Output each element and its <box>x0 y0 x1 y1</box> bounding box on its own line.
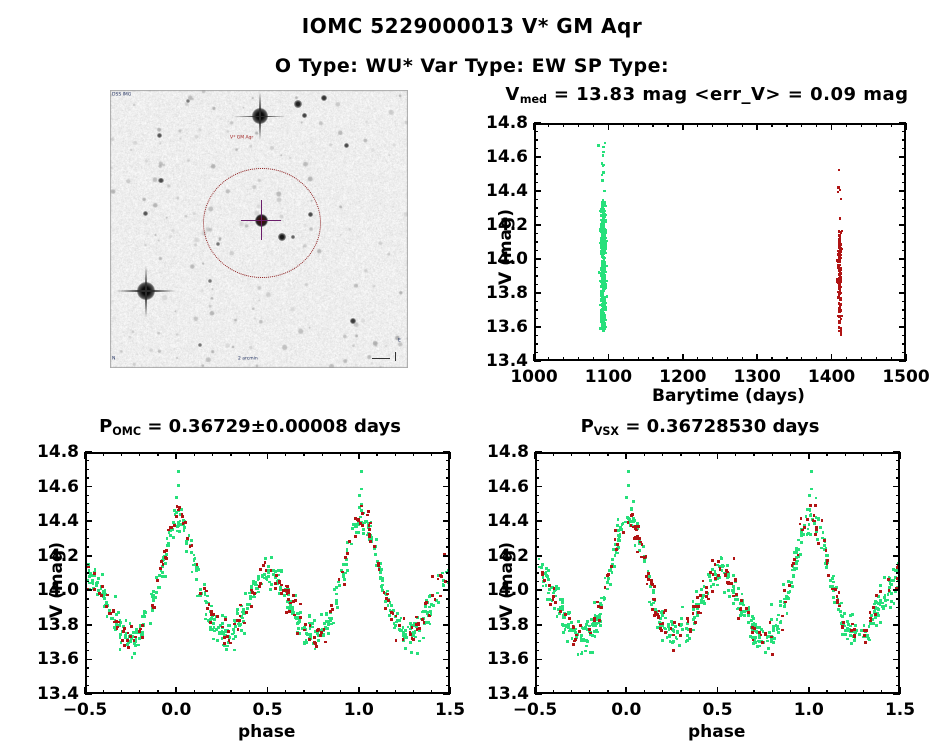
axis-tick <box>902 275 906 276</box>
data-point <box>758 636 761 639</box>
data-point <box>645 575 648 578</box>
y-axis-tick-label: 14.0 <box>27 580 79 600</box>
data-point <box>631 520 634 523</box>
data-point <box>814 533 817 536</box>
data-point <box>195 578 198 581</box>
data-point <box>601 209 603 211</box>
data-point <box>670 627 673 630</box>
data-point <box>695 590 698 593</box>
data-point <box>696 614 699 617</box>
crosshair-horizontal <box>241 220 281 221</box>
data-point <box>159 567 162 570</box>
axis-tick <box>902 173 906 174</box>
data-point <box>602 154 604 156</box>
axis-tick <box>534 284 538 285</box>
axis-tick <box>667 357 668 361</box>
axis-tick <box>816 357 817 361</box>
data-point <box>367 510 370 513</box>
axis-tick <box>534 452 536 459</box>
median-magnitude-line: Vmed = 13.83 mag <err_V> = 0.09 mag <box>470 84 944 106</box>
data-point <box>274 587 277 590</box>
data-point <box>575 634 578 637</box>
data-point <box>543 579 546 582</box>
data-point <box>338 584 341 587</box>
data-point <box>781 615 784 618</box>
data-point <box>409 631 412 634</box>
data-point <box>585 645 588 648</box>
data-point <box>739 602 742 605</box>
data-point <box>196 563 199 566</box>
axis-tick <box>85 538 89 539</box>
axis-tick <box>285 690 286 694</box>
axis-tick <box>139 452 140 456</box>
axis-tick <box>446 460 450 461</box>
data-point <box>390 611 393 614</box>
data-point <box>336 606 339 609</box>
data-point <box>837 296 839 298</box>
y-axis-tick-label: 13.6 <box>476 317 528 337</box>
data-point <box>740 599 743 602</box>
data-point <box>295 618 298 621</box>
data-point <box>270 569 273 572</box>
axis-tick <box>534 301 538 302</box>
data-point <box>577 653 580 656</box>
data-point <box>634 525 637 528</box>
axis-tick <box>443 486 450 488</box>
x-axis-tick-label: 1.5 <box>865 700 935 720</box>
data-point <box>615 551 618 554</box>
data-point <box>348 540 351 543</box>
axis-tick <box>893 451 900 453</box>
data-point <box>343 578 346 581</box>
axis-tick <box>85 581 89 582</box>
axis-tick <box>534 173 538 174</box>
field-star <box>158 178 164 183</box>
axis-tick <box>680 690 681 694</box>
data-point <box>431 575 434 578</box>
data-point <box>745 607 748 610</box>
data-point <box>449 565 450 568</box>
axis-tick <box>896 477 900 478</box>
data-point <box>827 574 830 577</box>
data-point <box>831 588 834 591</box>
data-point <box>127 632 130 635</box>
phase-omc-plot-area <box>85 452 450 694</box>
data-point <box>899 568 900 571</box>
axis-tick <box>902 318 906 319</box>
axis-tick <box>446 581 450 582</box>
axis-tick <box>157 452 158 456</box>
data-point <box>875 594 878 597</box>
data-point <box>806 533 809 536</box>
axis-tick <box>697 123 698 127</box>
p-vsx-symbol: P <box>581 416 594 437</box>
data-point <box>604 142 606 144</box>
axis-tick <box>697 357 698 361</box>
data-point <box>651 583 654 586</box>
data-point <box>344 572 347 575</box>
data-point <box>244 592 247 595</box>
axis-tick <box>742 123 743 127</box>
data-point <box>237 628 240 631</box>
axis-tick <box>735 690 736 694</box>
vmed-symbol: V <box>505 84 519 105</box>
data-point <box>432 604 435 607</box>
data-point <box>606 295 608 297</box>
data-point <box>840 330 842 332</box>
data-point <box>614 529 617 532</box>
axis-tick <box>896 581 900 582</box>
data-point <box>815 526 818 529</box>
data-point <box>786 612 789 615</box>
data-point <box>819 526 822 529</box>
data-point <box>232 638 235 641</box>
axis-tick <box>285 452 286 456</box>
data-point <box>95 584 98 587</box>
axis-tick <box>571 452 572 456</box>
axis-tick <box>896 538 900 539</box>
data-point <box>554 601 557 604</box>
data-point <box>622 522 625 525</box>
data-point <box>615 548 618 551</box>
data-point <box>205 613 208 616</box>
axis-tick <box>863 690 864 694</box>
data-point <box>838 591 841 594</box>
axis-tick <box>893 555 900 557</box>
y-axis-tick-label: 14.0 <box>477 580 529 600</box>
data-point <box>346 548 349 551</box>
data-point <box>726 564 729 567</box>
field-star <box>302 113 307 118</box>
data-point <box>797 539 800 542</box>
data-point <box>662 622 665 625</box>
axis-tick <box>589 452 590 456</box>
axis-tick <box>535 460 539 461</box>
data-point <box>199 588 202 591</box>
axis-tick <box>589 690 590 694</box>
data-point <box>703 602 706 605</box>
data-point <box>178 506 181 509</box>
data-point <box>386 593 389 596</box>
data-point <box>850 629 853 632</box>
data-point <box>308 638 311 641</box>
axis-tick <box>608 123 610 130</box>
axis-tick <box>902 301 906 302</box>
data-point <box>756 645 759 648</box>
data-point <box>579 624 582 627</box>
axis-tick <box>896 633 900 634</box>
data-point <box>175 515 178 518</box>
data-point <box>842 621 845 624</box>
data-point <box>407 626 410 629</box>
data-point <box>313 636 316 639</box>
field-star <box>278 233 286 241</box>
data-point <box>206 607 209 610</box>
axis-tick <box>899 452 901 459</box>
axis-tick <box>808 687 810 694</box>
data-point <box>296 632 299 635</box>
data-point <box>344 556 347 559</box>
data-point <box>603 597 606 600</box>
data-point <box>889 606 892 609</box>
data-point <box>808 523 811 526</box>
data-point <box>251 591 254 594</box>
axis-tick <box>893 624 900 626</box>
x-axis-tick-label: 0.5 <box>683 700 753 720</box>
data-point <box>849 614 852 617</box>
axis-tick <box>303 690 304 694</box>
data-point <box>387 604 390 607</box>
data-point <box>721 565 724 568</box>
data-point <box>614 554 617 557</box>
data-point <box>176 505 179 508</box>
data-point <box>275 574 278 577</box>
data-point <box>226 635 229 638</box>
data-point <box>787 596 790 599</box>
data-point <box>825 566 828 569</box>
axis-tick <box>699 452 700 456</box>
data-point <box>838 321 840 323</box>
axis-tick <box>85 460 89 461</box>
data-point <box>169 534 172 537</box>
data-point <box>199 592 202 595</box>
axis-tick <box>535 477 539 478</box>
data-point <box>817 542 820 545</box>
data-point <box>418 640 421 643</box>
data-point <box>613 565 616 568</box>
data-point <box>679 634 682 637</box>
axis-tick <box>267 452 269 459</box>
axis-tick <box>443 589 450 591</box>
axis-tick <box>881 690 882 694</box>
axis-tick <box>896 460 900 461</box>
data-point <box>402 638 405 641</box>
data-point <box>846 638 849 641</box>
axis-tick <box>446 650 450 651</box>
data-point <box>598 271 600 273</box>
data-point <box>337 581 340 584</box>
data-point <box>616 543 619 546</box>
data-point <box>377 562 380 565</box>
axis-tick <box>896 642 900 643</box>
axis-tick <box>891 123 892 127</box>
y-axis-tick-label: 14.8 <box>27 442 79 462</box>
data-point <box>737 617 740 620</box>
data-point <box>772 641 775 644</box>
axis-tick <box>85 667 89 668</box>
data-point <box>603 296 605 298</box>
finder-object-label: V* GM Aqr <box>230 135 253 140</box>
axis-tick <box>625 452 627 459</box>
phase-vsx-plot-area <box>535 452 900 694</box>
data-point <box>177 470 180 473</box>
field-star <box>350 318 356 324</box>
data-point <box>813 522 816 525</box>
data-point <box>345 558 348 561</box>
data-point <box>373 545 376 548</box>
data-point <box>204 593 207 596</box>
data-point <box>361 524 364 527</box>
data-point <box>577 620 580 623</box>
axis-tick <box>443 693 450 695</box>
data-point <box>346 552 349 555</box>
data-point <box>418 627 421 630</box>
axis-tick <box>85 616 89 617</box>
data-point <box>839 257 841 259</box>
data-point <box>732 595 735 598</box>
axis-tick <box>534 165 538 166</box>
axis-tick <box>413 690 414 694</box>
data-point <box>676 638 679 641</box>
data-point <box>733 557 736 560</box>
axis-tick <box>534 326 541 328</box>
data-point <box>89 575 92 578</box>
data-point <box>779 604 782 607</box>
axis-tick <box>816 123 817 127</box>
axis-tick <box>893 589 900 591</box>
data-point <box>267 572 270 575</box>
data-point <box>385 597 388 600</box>
data-point <box>809 504 812 507</box>
axis-tick <box>876 123 877 127</box>
data-point <box>121 640 124 643</box>
data-point <box>614 538 617 541</box>
data-point <box>737 587 740 590</box>
axis-tick <box>902 165 906 166</box>
axis-tick <box>593 357 594 361</box>
data-point <box>705 586 708 589</box>
phase-vsx-title: PVSX = 0.36728530 days <box>490 416 910 438</box>
data-point <box>97 577 100 580</box>
data-point <box>797 548 800 551</box>
data-point <box>678 644 681 647</box>
data-point <box>594 635 597 638</box>
data-point <box>668 634 671 637</box>
data-point <box>717 574 720 577</box>
data-point <box>141 624 144 627</box>
data-point <box>548 584 551 587</box>
data-point <box>315 645 318 648</box>
data-point <box>610 565 613 568</box>
axis-tick <box>230 452 231 456</box>
data-point <box>851 623 854 626</box>
data-point <box>645 555 648 558</box>
y-axis-tick-label: 14.6 <box>476 147 528 167</box>
data-point <box>403 617 406 620</box>
finder-survey-label: DSS IMG <box>112 92 131 97</box>
data-point <box>162 563 165 566</box>
data-point <box>631 513 634 516</box>
data-point <box>602 218 604 220</box>
data-point <box>375 538 378 541</box>
data-point <box>320 613 323 616</box>
axis-tick <box>896 546 900 547</box>
data-point <box>326 627 329 630</box>
data-point <box>578 630 581 633</box>
data-point <box>791 569 794 572</box>
data-point <box>588 625 591 628</box>
data-point <box>601 174 603 176</box>
axis-tick <box>896 598 900 599</box>
data-point <box>712 573 715 576</box>
data-point <box>604 285 606 287</box>
data-point <box>769 621 772 624</box>
data-point <box>887 593 890 596</box>
data-point <box>890 592 893 595</box>
data-point <box>705 595 708 598</box>
data-point <box>636 551 639 554</box>
data-point <box>604 586 607 589</box>
data-point <box>320 631 323 634</box>
data-point <box>885 604 888 607</box>
field-star <box>216 242 220 246</box>
data-point <box>899 573 900 576</box>
x-axis-tick-label: 1.5 <box>415 700 485 720</box>
y-axis-tick-label: 13.6 <box>477 649 529 669</box>
data-point <box>152 590 155 593</box>
data-point <box>556 615 559 618</box>
axis-tick <box>902 148 906 149</box>
lightcurve-x-axis-label: Barytime (days) <box>652 386 805 406</box>
data-point <box>775 624 778 627</box>
data-point <box>139 628 142 631</box>
data-point <box>730 582 733 585</box>
data-point <box>94 568 97 571</box>
data-point <box>875 624 878 627</box>
data-point <box>567 612 570 615</box>
axis-tick <box>85 564 89 565</box>
data-point <box>735 593 738 596</box>
y-axis-tick-label: 13.8 <box>476 283 528 303</box>
axis-tick <box>85 495 89 496</box>
data-point <box>225 648 228 651</box>
data-point <box>538 558 541 561</box>
field-star <box>308 212 313 217</box>
data-point <box>289 602 292 605</box>
data-point <box>693 616 696 619</box>
axis-tick <box>443 659 450 661</box>
data-point <box>424 605 427 608</box>
axis-tick <box>771 123 772 127</box>
data-point <box>776 618 779 621</box>
data-point <box>601 275 603 277</box>
data-point <box>449 568 450 571</box>
data-point <box>820 547 823 550</box>
field-star <box>294 100 302 108</box>
data-point <box>782 583 785 586</box>
data-point <box>877 614 880 617</box>
y-axis-tick-label: 14.2 <box>476 215 528 235</box>
data-point <box>838 260 840 262</box>
data-point <box>599 613 602 616</box>
data-point <box>181 515 184 518</box>
data-point <box>384 607 387 610</box>
x-axis-tick-label: 1200 <box>648 367 718 387</box>
axis-tick <box>712 357 713 361</box>
axis-tick <box>535 589 542 591</box>
data-point <box>663 627 666 630</box>
data-point <box>293 614 296 617</box>
data-point <box>787 591 790 594</box>
data-point <box>714 563 717 566</box>
data-point <box>676 631 679 634</box>
axis-tick <box>121 452 122 456</box>
data-point <box>324 641 327 644</box>
data-point <box>799 523 802 526</box>
data-point <box>596 601 599 604</box>
data-point <box>809 533 812 536</box>
data-point <box>603 252 605 254</box>
